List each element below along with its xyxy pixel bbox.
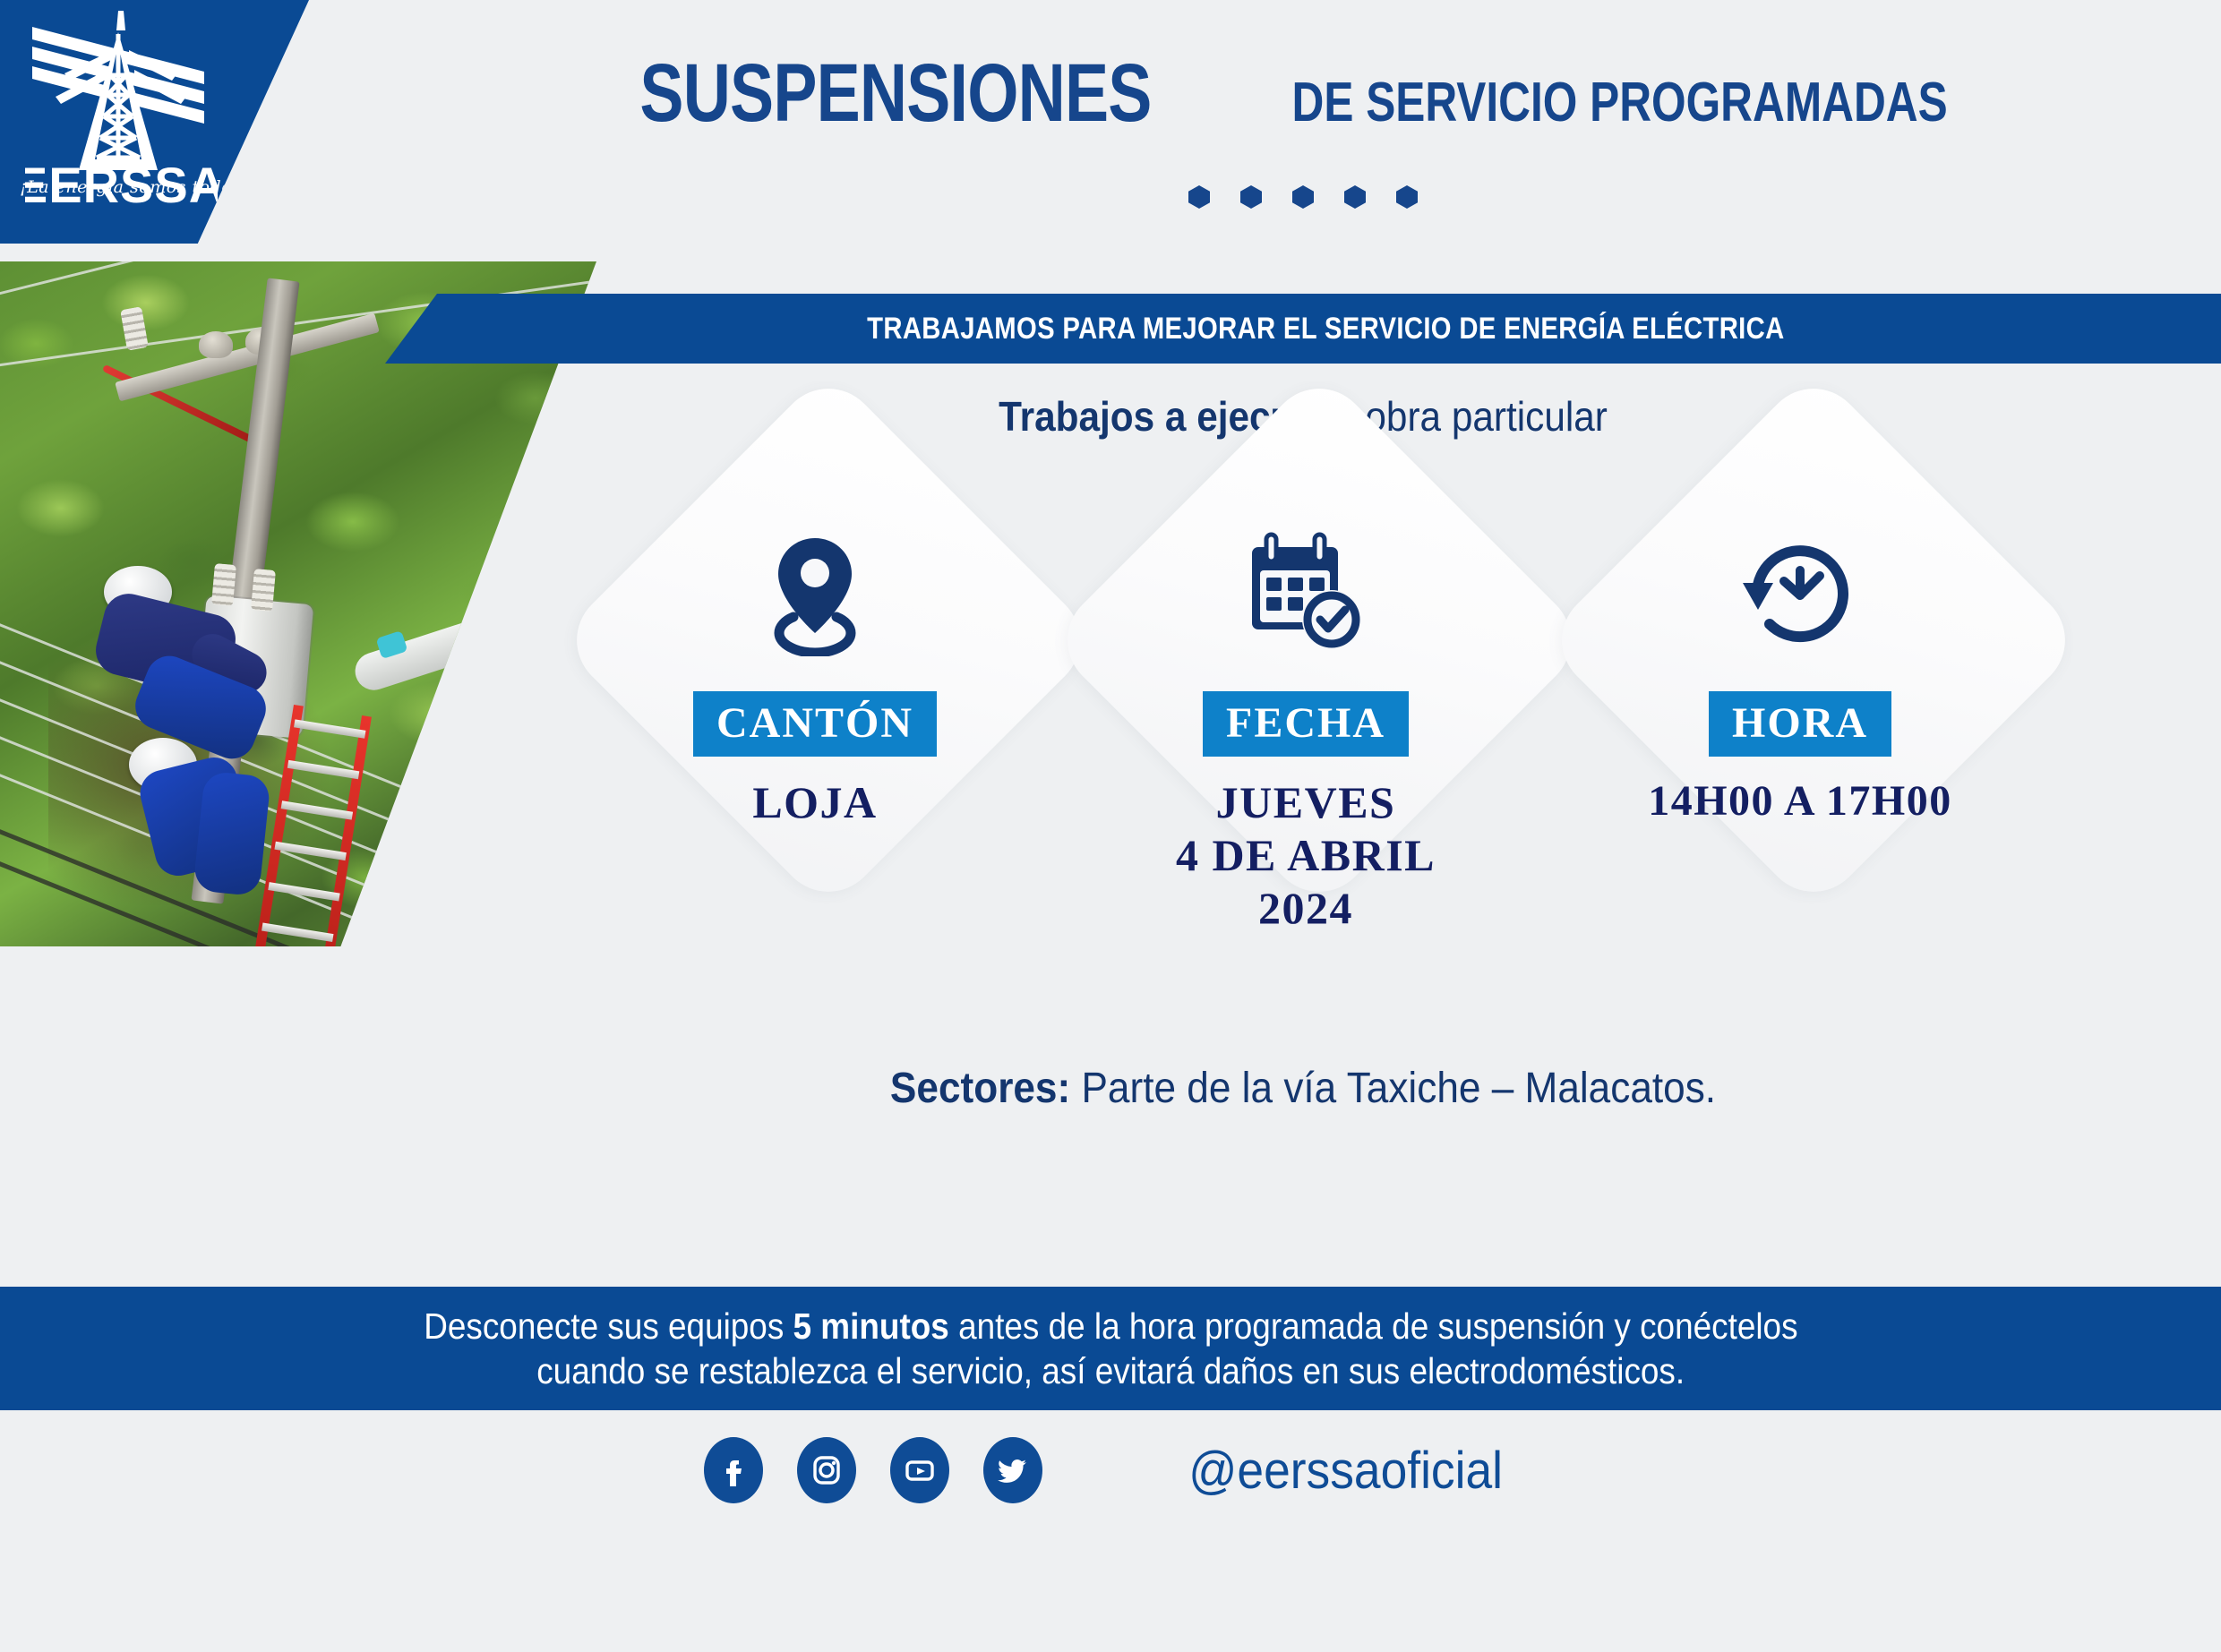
calendar-check-icon: [1028, 526, 1583, 661]
advisory-line1-bold: 5 minutos: [793, 1305, 948, 1347]
eerssa-tower-logo-icon: EERSSA: [25, 7, 218, 236]
advisory-banner: Desconecte sus equipos 5 minutos antes d…: [0, 1287, 2221, 1410]
advisory-line-2: cuando se restablezca el servicio, así e…: [536, 1348, 1685, 1393]
advisory-line1-post: antes de la hora programada de suspensió…: [948, 1305, 1797, 1347]
title-dot: [1396, 185, 1418, 209]
map-pin-icon: [537, 526, 1093, 661]
card-value-canton: LOJA: [537, 776, 1093, 829]
info-card-canton: CANTÓN LOJA: [537, 501, 1093, 1057]
sectors-line: Sectores: Parte de la vía Taxiche – Mala…: [459, 1064, 2148, 1113]
card-chip-hora: HORA: [1709, 691, 1891, 757]
clock-history-icon: [1522, 526, 2078, 661]
works-value: obra particular: [1365, 393, 1608, 440]
page-title-main: SUSPENSIONES: [640, 47, 1152, 141]
title-dot-separator: [0, 185, 2221, 209]
page-title: SUSPENSIONESDE SERVICIO PROGRAMADAS: [385, 47, 2221, 141]
card-value-fecha: JUEVES 4 DE ABRIL 2024: [1028, 776, 1583, 935]
social-handle[interactable]: @eerssaoficial: [1189, 1441, 1504, 1501]
brand-tagline: ¡La energía somos todos!: [20, 177, 208, 197]
subtitle-banner: TRABAJAMOS PARA MEJORAR EL SERVICIO DE E…: [385, 294, 2221, 364]
info-card-hora: HORA 14H00 A 17H00: [1522, 501, 2078, 1057]
social-links: @eerssaoficial: [0, 1437, 2221, 1503]
title-dot: [1344, 185, 1366, 209]
instagram-icon[interactable]: [797, 1437, 856, 1503]
poster-root: EERSSA ¡La energía somos todos!: [0, 0, 2221, 1652]
subtitle-banner-text: TRABAJAMOS PARA MEJORAR EL SERVICIO DE E…: [821, 312, 1785, 347]
sectors-label: Sectores:: [890, 1065, 1070, 1112]
title-dot: [1188, 185, 1210, 209]
info-card-fecha: FECHA JUEVES 4 DE ABRIL 2024: [1028, 501, 1583, 1057]
title-dot: [1292, 185, 1314, 209]
twitter-icon[interactable]: [983, 1437, 1042, 1503]
advisory-line1-pre: Desconecte sus equipos: [424, 1305, 793, 1347]
card-value-hora: 14H00 A 17H00: [1522, 776, 2078, 827]
facebook-icon[interactable]: [704, 1437, 763, 1503]
title-dot: [1240, 185, 1262, 209]
card-chip-fecha: FECHA: [1203, 691, 1409, 757]
advisory-line-1: Desconecte sus equipos 5 minutos antes d…: [424, 1304, 1797, 1348]
page-title-sub: DE SERVICIO PROGRAMADAS: [1292, 71, 1948, 134]
sectors-value: Parte de la vía Taxiche – Malacatos.: [1081, 1065, 1716, 1112]
card-chip-canton: CANTÓN: [693, 691, 937, 757]
youtube-icon[interactable]: [890, 1437, 949, 1503]
